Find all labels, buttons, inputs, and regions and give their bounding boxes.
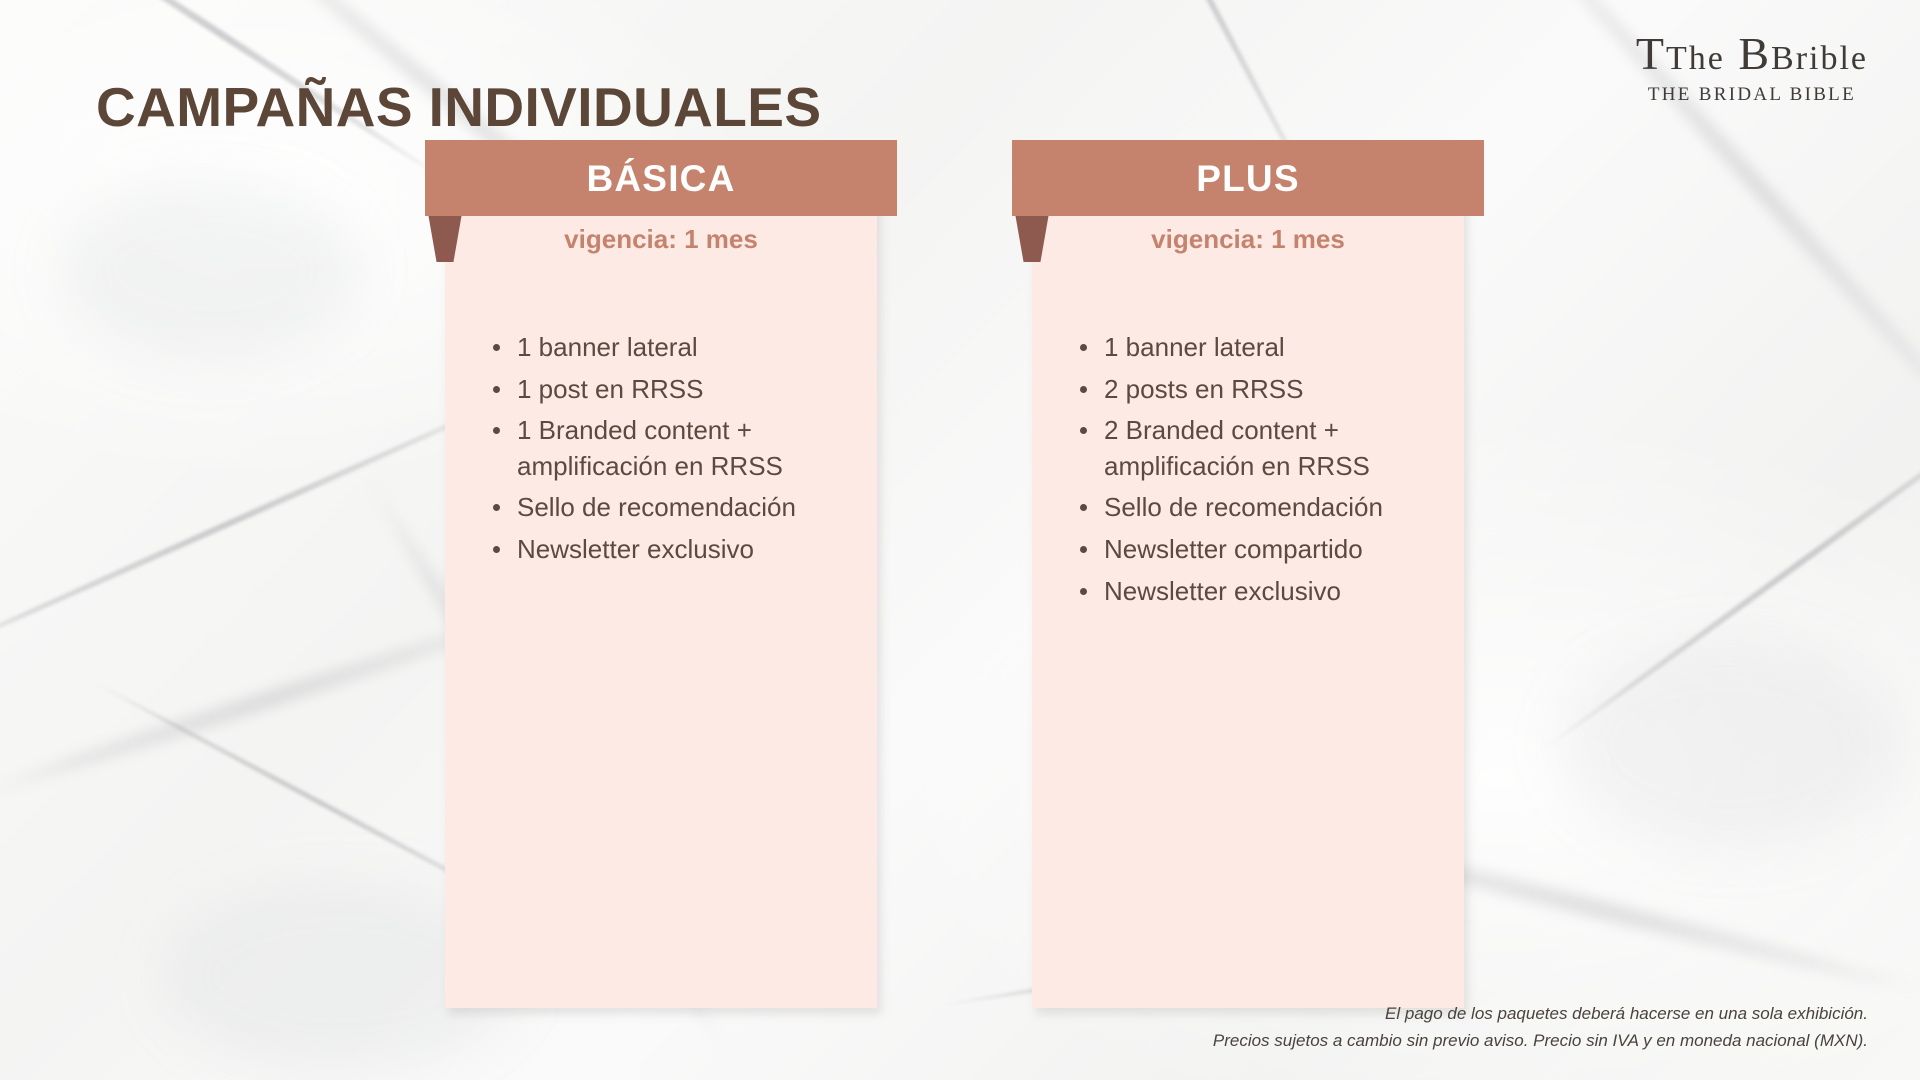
marble-blotch	[60, 180, 360, 360]
list-item: 1 banner lateral	[1074, 330, 1444, 366]
footer-line-2: Precios sujetos a cambio sin previo avis…	[1213, 1028, 1868, 1054]
list-item: Newsletter exclusivo	[487, 532, 857, 568]
feature-list: 1 banner lateral 2 posts en RRSS 2 Brand…	[1074, 330, 1444, 615]
list-item: Sello de recomendación	[1074, 490, 1444, 526]
slide-background	[0, 0, 1920, 1080]
brand-logo: TThe BBrible THE BRIDAL BIBLE	[1636, 30, 1868, 106]
brand-logo-the: The	[1666, 40, 1725, 77]
list-item: Newsletter compartido	[1074, 532, 1444, 568]
plan-name: BÁSICA	[586, 160, 735, 197]
footer-line-1: El pago de los paquetes deberá hacerse e…	[1213, 1001, 1868, 1027]
list-item: 1 post en RRSS	[487, 372, 857, 408]
list-item: Sello de recomendación	[487, 490, 857, 526]
list-item: 1 banner lateral	[487, 330, 857, 366]
feature-list: 1 banner lateral 1 post en RRSS 1 Brande…	[487, 330, 857, 574]
plan-validity: vigencia: 1 mes	[1032, 224, 1464, 255]
list-item: Newsletter exclusivo	[1074, 574, 1444, 610]
card-header-ribbon: PLUS	[1012, 140, 1484, 216]
card-body	[445, 200, 877, 1008]
brand-logo-subtitle: THE BRIDAL BIBLE	[1636, 84, 1868, 106]
list-item: 2 posts en RRSS	[1074, 372, 1444, 408]
footer-disclaimer: El pago de los paquetes deberá hacerse e…	[1213, 1001, 1868, 1054]
card-header-ribbon: BÁSICA	[425, 140, 897, 216]
marble-blotch	[1560, 640, 1900, 850]
brand-logo-main: TThe BBrible	[1636, 30, 1868, 79]
plan-name: PLUS	[1196, 160, 1299, 197]
list-item: 2 Branded content + amplificación en RRS…	[1074, 413, 1444, 484]
list-item: 1 Branded content + amplificación en RRS…	[487, 413, 857, 484]
brand-logo-brible: Brible	[1771, 40, 1868, 77]
plan-validity: vigencia: 1 mes	[445, 224, 877, 255]
page-title: CAMPAÑAS INDIVIDUALES	[96, 75, 821, 139]
